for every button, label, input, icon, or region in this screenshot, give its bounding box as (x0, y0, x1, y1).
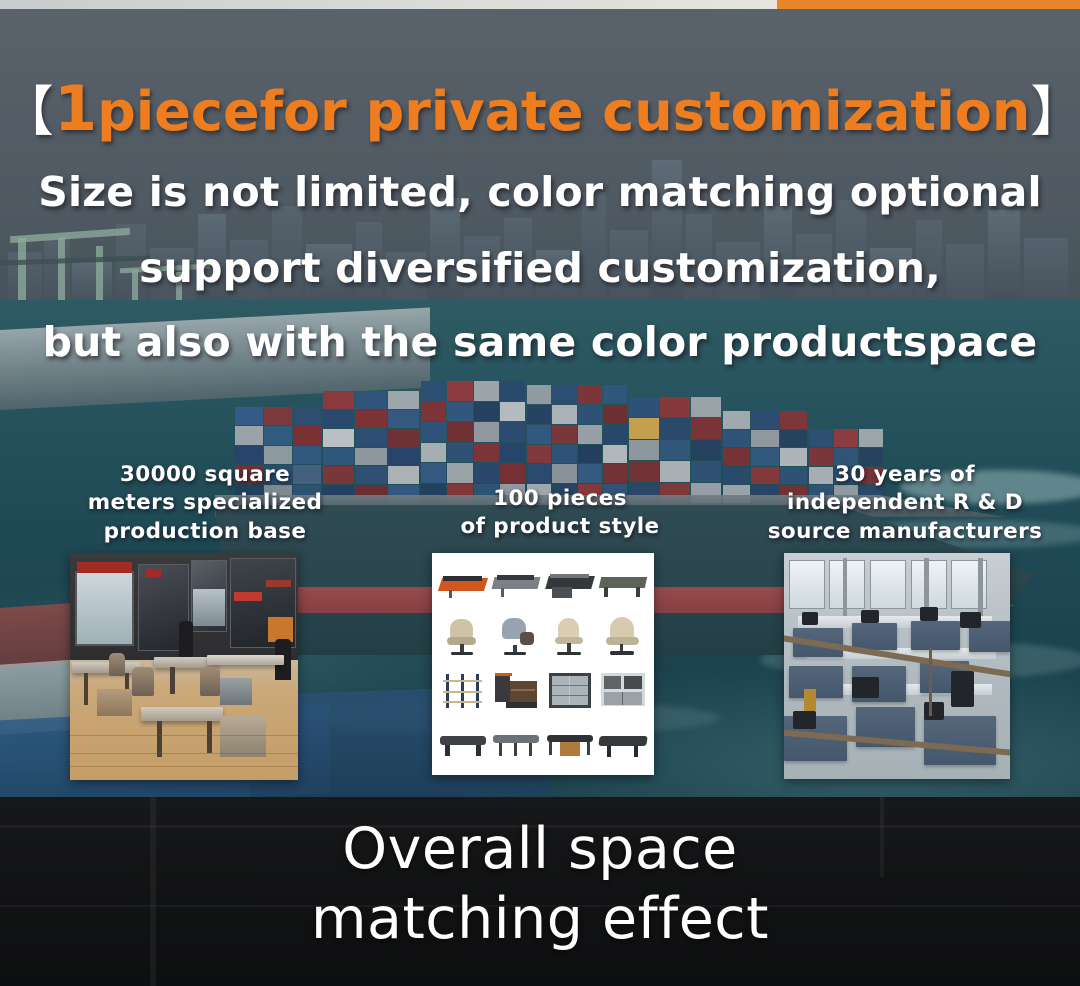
feature-3-line-2: independent R & D (745, 489, 1065, 517)
subtitle-line-3: but also with the same color productspac… (0, 318, 1080, 366)
top-accent-strip (777, 0, 1080, 9)
headline-text: piecefor private customization (97, 80, 1030, 143)
subtitle-line-1: Size is not limited, color matching opti… (0, 168, 1080, 216)
promo-poster: 【1piecefor private customization】 Size i… (0, 0, 1080, 986)
feature-2-line-1: 100 pieces (415, 485, 705, 513)
headline-bracket-close: 】 (1030, 80, 1080, 143)
product-grid-photo (432, 553, 654, 775)
subtitle-line-2: support diversified customization, (0, 244, 1080, 292)
headline-number: 1 (54, 72, 97, 145)
feature-3-line-3: source manufacturers (745, 518, 1065, 546)
hero-background-scene: 【1piecefor private customization】 Size i… (0, 0, 1080, 797)
bottom-banner: Overall space matching effect (0, 797, 1080, 986)
feature-3-line-1: 30 years of (745, 461, 1065, 489)
headline-bracket-open: 【 (0, 80, 54, 143)
bottom-line-2: matching effect (0, 885, 1080, 955)
bottom-line-1: Overall space (0, 815, 1080, 885)
factory-photo (784, 553, 1010, 779)
feature-caption-1: 30000 square meters specialized producti… (55, 461, 355, 546)
feature-2-line-2: of product style (415, 513, 705, 541)
feature-1-line-3: production base (55, 518, 355, 546)
headline: 【1piecefor private customization】 (0, 76, 1080, 141)
feature-1-line-1: 30000 square (55, 461, 355, 489)
showroom-photo (70, 553, 298, 780)
feature-1-line-2: meters specialized (55, 489, 355, 517)
feature-caption-2: 100 pieces of product style (415, 485, 705, 542)
feature-caption-3: 30 years of independent R & D source man… (745, 461, 1065, 546)
bottom-banner-text: Overall space matching effect (0, 815, 1080, 954)
